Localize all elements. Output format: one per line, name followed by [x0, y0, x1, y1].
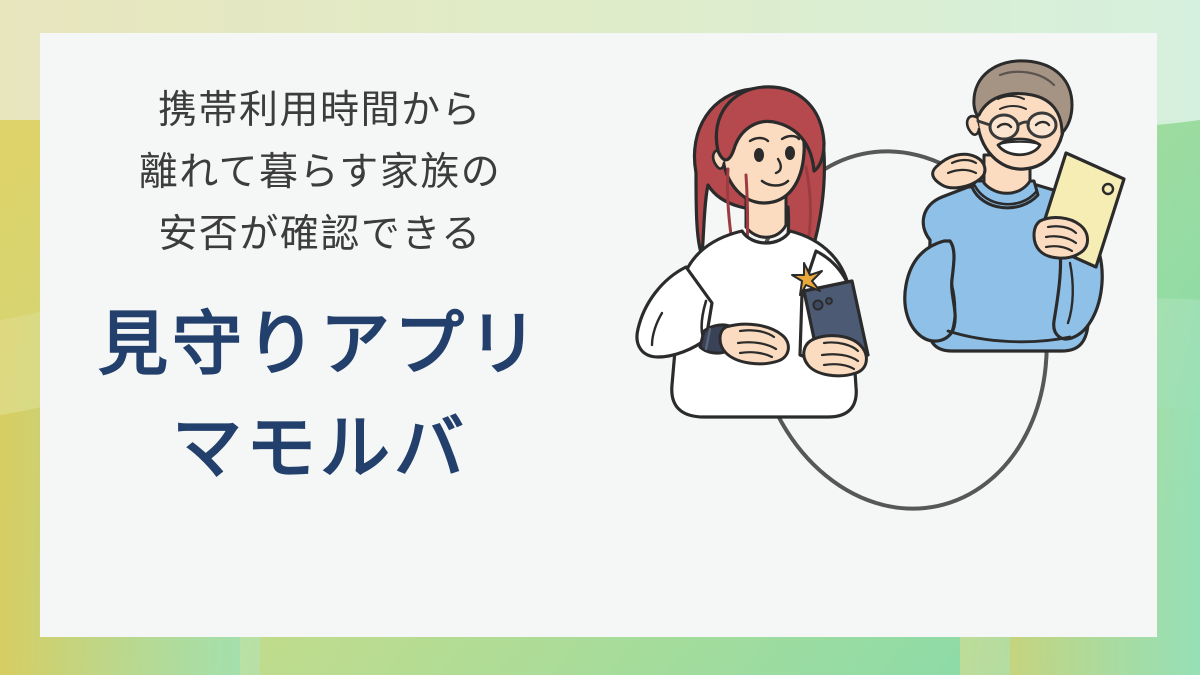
subtitle-line-2: 離れて暮らす家族の [60, 142, 580, 204]
headline-group: 携帯利用時間から 離れて暮らす家族の 安否が確認できる 見守りアプリ マモルバ [60, 80, 580, 500]
subtitle-line-1: 携帯利用時間から [60, 80, 580, 142]
elderly-man-with-phone [905, 61, 1124, 351]
title-line-2: マモルバ [60, 396, 580, 500]
young-woman-with-smartphone-and-smartwatch [637, 87, 868, 417]
banner-stage: 携帯利用時間から 離れて暮らす家族の 安否が確認できる 見守りアプリ マモルバ [0, 0, 1200, 675]
family-watch-over-illustration [600, 55, 1160, 635]
subtitle-line-3: 安否が確認できる [60, 204, 580, 266]
app-title: 見守りアプリ マモルバ [60, 292, 580, 500]
title-line-1: 見守りアプリ [60, 292, 580, 396]
